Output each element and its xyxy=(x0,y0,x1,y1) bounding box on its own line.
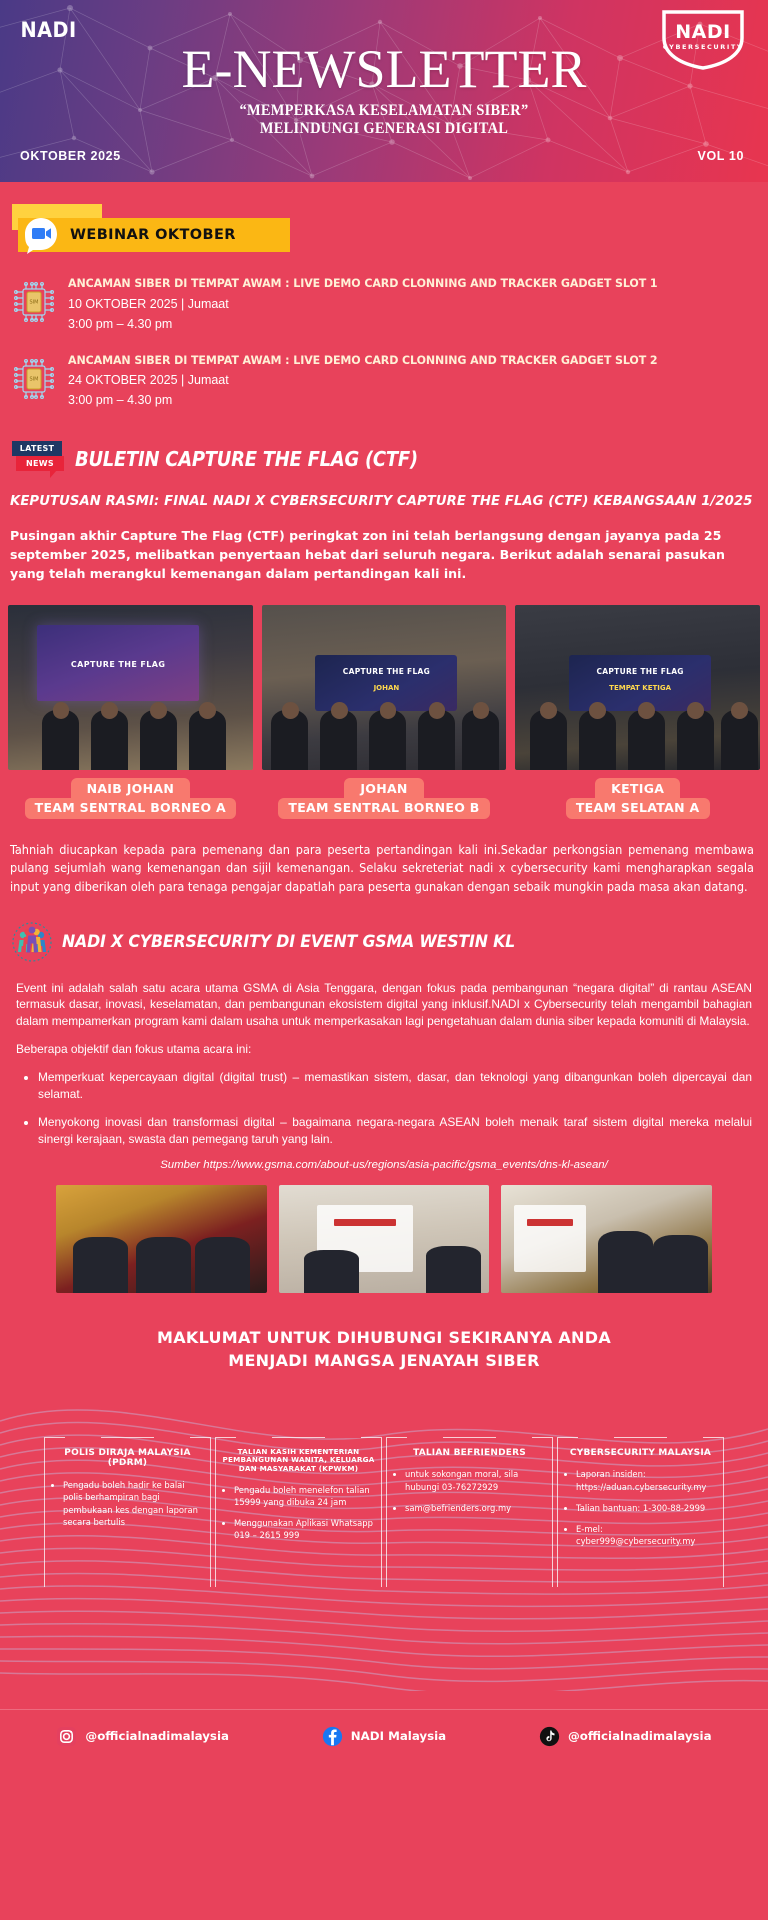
video-camera-icon xyxy=(22,216,60,254)
card-item: Menggunakan Aplikasi Whatsapp 019 – 2615… xyxy=(234,1517,375,1541)
page-title: E-NEWSLETTER xyxy=(0,42,768,96)
contact-card-pdrm: POLIS DIRAJA MALAYSIA (PDRM) Pengadu bol… xyxy=(44,1437,211,1587)
gsma-heading: NADI X CYBERSECURITY DI EVENT GSMA WESTI… xyxy=(62,932,515,952)
ctf-winner-photos: CAPTURE THE FLAG CAPTURE THE FLAG JOHAN … xyxy=(0,583,768,770)
webinar-badge-label: WEBINAR OKTOBER xyxy=(70,227,236,243)
social-link-tiktok[interactable]: @officialnadimalaysia xyxy=(539,1726,712,1747)
webinar-item: SIM ANCAMAN SIBER DI TEMPAT AWAM : LIVE … xyxy=(10,353,754,408)
social-label: NADI Malaysia xyxy=(351,1729,446,1743)
instagram-icon[interactable] xyxy=(56,1726,77,1747)
webinar-title: ANCAMAN SIBER DI TEMPAT AWAM : LIVE DEMO… xyxy=(68,354,733,368)
banner-rank: JOHAN xyxy=(315,684,457,692)
wave-divider: POLIS DIRAJA MALAYSIA (PDRM) Pengadu bol… xyxy=(0,1391,768,1691)
webinar-title: ANCAMAN SIBER DI TEMPAT AWAM : LIVE DEMO… xyxy=(68,277,733,291)
contact-heading-line-2: MENJADI MANGSA JENAYAH SIBER xyxy=(0,1350,768,1373)
newsletter-header: NADI NADI CYBERSECURITY E-NEWSLETTER “ME… xyxy=(0,0,768,182)
banner-title: CAPTURE THE FLAG xyxy=(569,667,711,676)
nadi-wordmark: NADI xyxy=(20,18,76,42)
contact-card-befrienders: TALIAN BEFRIENDERS untuk sokongan moral,… xyxy=(386,1437,553,1587)
svg-text:SIM: SIM xyxy=(30,300,39,306)
winner-rank: JOHAN xyxy=(344,778,423,798)
winner-photo: CAPTURE THE FLAG TEMPAT KETIGA xyxy=(515,605,760,770)
winner-rank: NAIB JOHAN xyxy=(71,778,191,798)
webinar-section-header: WEBINAR OKTOBER xyxy=(0,204,768,254)
social-footer: @officialnadimalaysia NADI Malaysia @off… xyxy=(0,1709,768,1765)
webinar-date: 24 OKTOBER 2025 | Jumaat xyxy=(68,373,754,387)
winner-captions: NAIB JOHAN TEAM SENTRAL BORNEO A JOHAN T… xyxy=(0,770,768,819)
gsma-paragraph-2: Beberapa objektif dan fokus utama acara … xyxy=(16,1041,752,1057)
winner-team: TEAM SELATAN A xyxy=(566,798,710,819)
contact-section-heading: MAKLUMAT UNTUK DIHUBUNGI SEKIRANYA ANDA … xyxy=(0,1293,768,1372)
social-label: @officialnadimalaysia xyxy=(568,1729,712,1743)
card-item: untuk sokongan moral, sila hubungi 03-76… xyxy=(405,1468,546,1492)
card-item[interactable]: E-mel: cyber999@cybersecurity.my xyxy=(576,1523,717,1547)
contact-heading-line-1: MAKLUMAT UNTUK DIHUBUNGI SEKIRANYA ANDA xyxy=(0,1327,768,1350)
gsma-section-header: NADI X CYBERSECURITY DI EVENT GSMA WESTI… xyxy=(0,896,768,962)
exhibition-banner xyxy=(514,1205,586,1272)
card-title: POLIS DIRAJA MALAYSIA (PDRM) xyxy=(51,1448,204,1470)
winner-photo: CAPTURE THE FLAG xyxy=(8,605,253,770)
gsma-body: Event ini adalah salah satu acara utama … xyxy=(16,980,752,1058)
gsma-paragraph-1: Event ini adalah salah satu acara utama … xyxy=(16,980,752,1029)
webinar-time: 3:00 pm – 4.30 pm xyxy=(68,393,754,407)
people-silhouettes xyxy=(262,701,507,770)
latest-label: LATEST xyxy=(12,441,62,456)
webinar-date: 10 OKTOBER 2025 | Jumaat xyxy=(68,297,754,311)
list-item: Menyokong inovasi dan transformasi digit… xyxy=(38,1114,752,1147)
ctf-subheading: KEPUTUSAN RASMI: FINAL NADI X CYBERSECUR… xyxy=(10,493,756,511)
gsma-objectives-list: Memperkuat kepercayaan digital (digital … xyxy=(38,1069,752,1147)
gsma-photo xyxy=(56,1185,267,1293)
contact-cards: POLIS DIRAJA MALAYSIA (PDRM) Pengadu bol… xyxy=(0,1437,768,1587)
card-item: Talian bantuan: 1-300-88-2999 xyxy=(576,1502,717,1514)
webinar-badge: WEBINAR OKTOBER xyxy=(18,218,290,252)
webinar-list: SIM ANCAMAN SIBER DI TEMPAT AWAM : LIVE … xyxy=(0,276,768,407)
gsma-photo-gallery xyxy=(0,1171,768,1293)
list-item: Memperkuat kepercayaan digital (digital … xyxy=(38,1069,752,1102)
card-title: TALIAN KASIH KEMENTERIAN PEMBANGUNAN WAN… xyxy=(222,1448,375,1474)
social-link-facebook[interactable]: NADI Malaysia xyxy=(322,1726,446,1747)
news-label: NEWS xyxy=(16,456,64,471)
tiktok-icon[interactable] xyxy=(539,1726,560,1747)
winner-team: TEAM SENTRAL BORNEO A xyxy=(25,798,236,819)
contact-card-cybersecurity-malaysia: CYBERSECURITY MALAYSIA Laporan insiden: … xyxy=(557,1437,724,1587)
facebook-icon[interactable] xyxy=(322,1726,343,1747)
ctf-heading: BULETIN CAPTURE THE FLAG (CTF) xyxy=(75,447,418,471)
card-title: TALIAN BEFRIENDERS xyxy=(393,1448,546,1459)
people-silhouettes xyxy=(515,701,760,770)
social-label: @officialnadimalaysia xyxy=(85,1729,229,1743)
caption-cell: JOHAN TEAM SENTRAL BORNEO B xyxy=(262,778,507,819)
ctf-section-header: LATEST NEWS BULETIN CAPTURE THE FLAG (CT… xyxy=(0,429,768,477)
card-item: Pengadu boleh menelefon talian 15999 yan… xyxy=(234,1484,375,1508)
people-silhouettes xyxy=(8,701,253,770)
social-link-instagram[interactable]: @officialnadimalaysia xyxy=(56,1726,229,1747)
gsma-photo xyxy=(501,1185,712,1293)
card-item[interactable]: Laporan insiden: https://aduan.cybersecu… xyxy=(576,1468,717,1492)
svg-text:SIM: SIM xyxy=(30,376,39,382)
tagline-primary: “MEMPERKASA KESELAMATAN SIBER” xyxy=(27,102,741,120)
card-title: CYBERSECURITY MALAYSIA xyxy=(564,1448,717,1459)
card-item[interactable]: sam@befrienders.org.my xyxy=(405,1502,546,1514)
tagline-secondary: MELINDUNGI GENERASI DIGITAL xyxy=(27,120,741,138)
gsma-photo xyxy=(279,1185,490,1293)
latest-news-badge: LATEST NEWS xyxy=(10,441,66,477)
webinar-item: SIM ANCAMAN SIBER DI TEMPAT AWAM : LIVE … xyxy=(10,276,754,331)
issue-volume: VOL 10 xyxy=(698,149,744,163)
winner-team: TEAM SENTRAL BORNEO B xyxy=(278,798,489,819)
webinar-time: 3:00 pm – 4.30 pm xyxy=(68,317,754,331)
sim-chip-icon: SIM xyxy=(10,355,58,403)
screen-text: CAPTURE THE FLAG xyxy=(37,660,198,669)
issue-date: OKTOBER 2025 xyxy=(20,149,121,163)
gsma-source-link[interactable]: Sumber https://www.gsma.com/about-us/reg… xyxy=(16,1159,752,1171)
winner-photo: CAPTURE THE FLAG JOHAN xyxy=(262,605,507,770)
sim-chip-icon: SIM xyxy=(10,278,58,326)
ctf-closing-paragraph: Tahniah diucapkan kepada para pemenang d… xyxy=(10,841,754,896)
caption-cell: KETIGA TEAM SELATAN A xyxy=(515,778,760,819)
winner-rank: KETIGA xyxy=(595,778,680,798)
logo-text: NADI xyxy=(656,21,750,43)
badge-tail-icon xyxy=(50,470,57,478)
card-item: Pengadu boleh hadir ke balai polis berha… xyxy=(63,1479,204,1528)
projector-screen: CAPTURE THE FLAG xyxy=(37,625,198,701)
banner-rank: TEMPAT KETIGA xyxy=(569,684,711,692)
contact-card-kpwkm: TALIAN KASIH KEMENTERIAN PEMBANGUNAN WAN… xyxy=(215,1437,382,1587)
banner-title: CAPTURE THE FLAG xyxy=(315,667,457,676)
community-people-icon xyxy=(12,922,52,962)
caption-cell: NAIB JOHAN TEAM SENTRAL BORNEO A xyxy=(8,778,253,819)
ctf-paragraph: Pusingan akhir Capture The Flag (CTF) pe… xyxy=(10,526,754,583)
